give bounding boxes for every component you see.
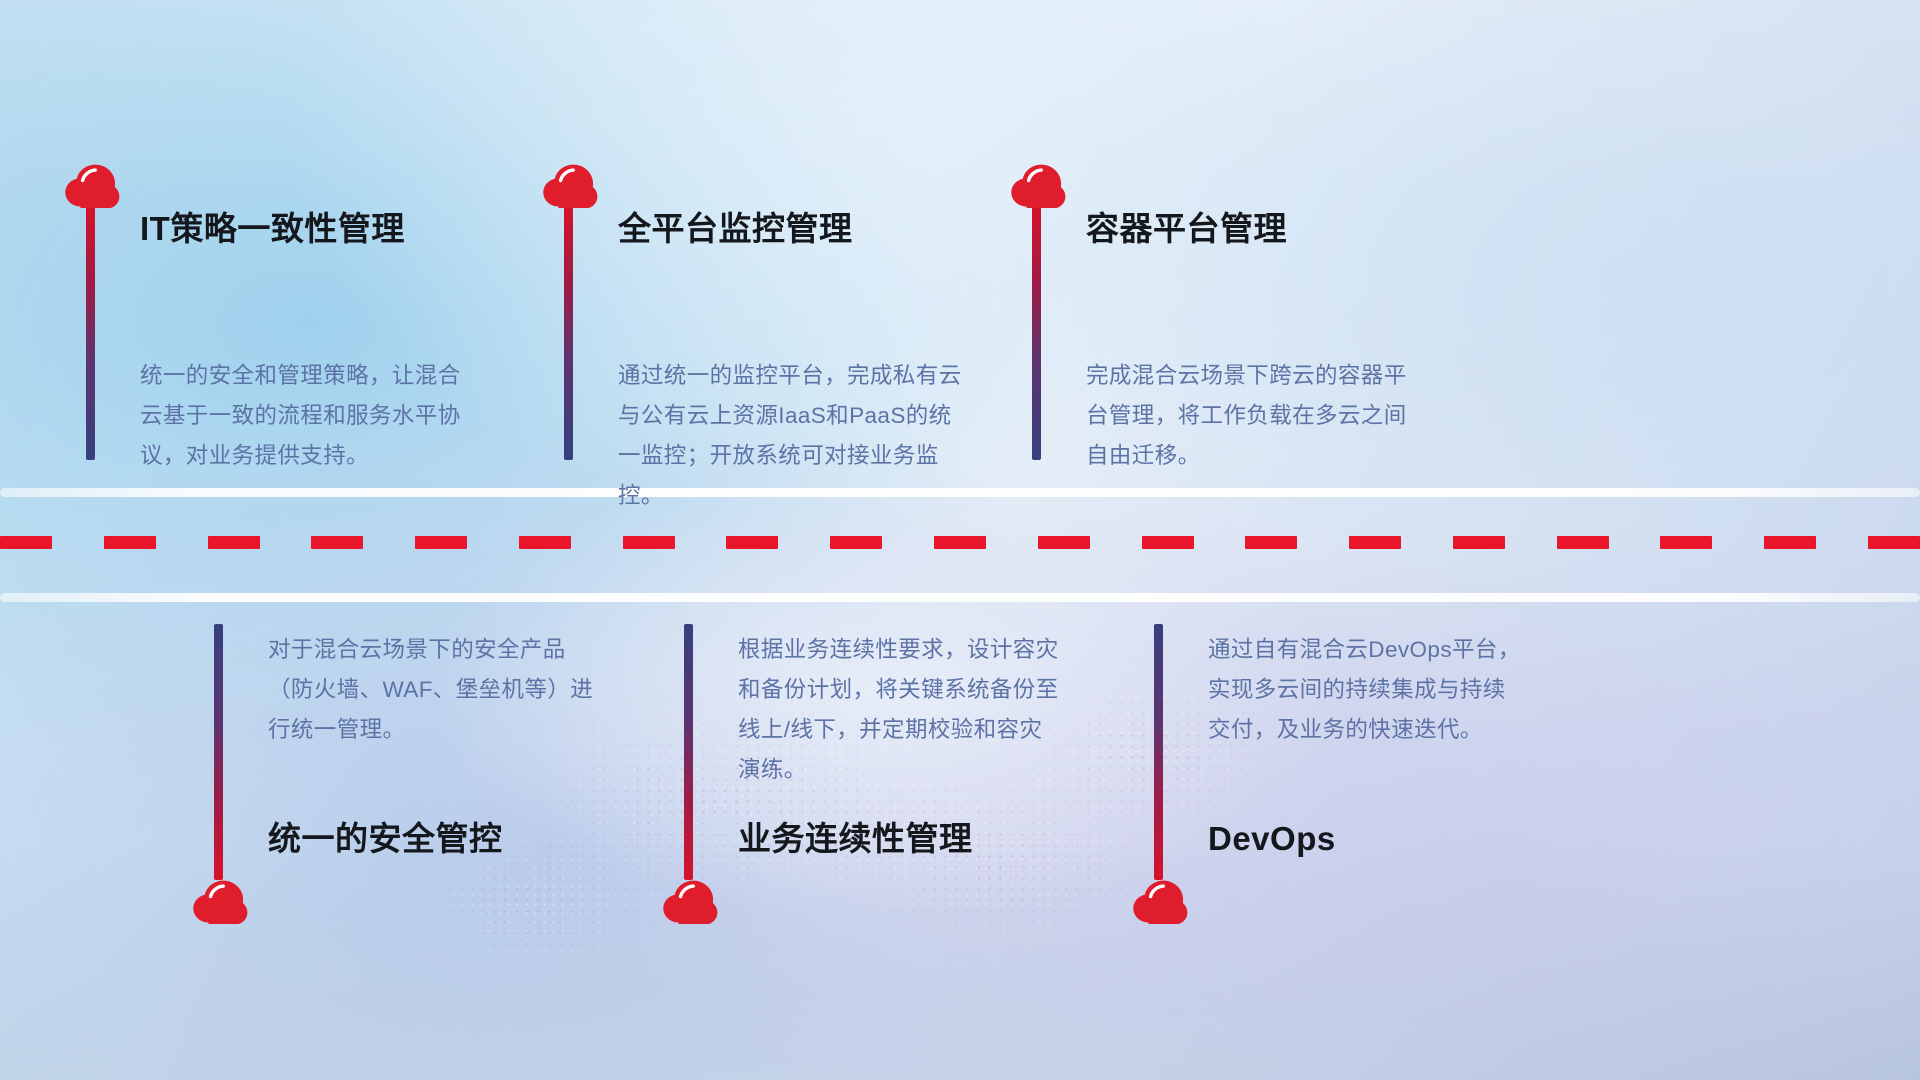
divider-dash xyxy=(104,536,156,549)
divider-dash xyxy=(1349,536,1401,549)
divider-dash xyxy=(830,536,882,549)
marker-stem xyxy=(684,624,693,880)
divider-dash xyxy=(934,536,986,549)
cloud-pin-marker xyxy=(540,160,600,460)
capability-title: IT策略一致性管理 xyxy=(140,212,405,245)
divider-dash xyxy=(726,536,778,549)
divider-dash xyxy=(1557,536,1609,549)
marker-stem xyxy=(564,204,573,460)
capability-description: 完成混合云场景下跨云的容器平 台管理，将工作负载在多云之间 自由迁移。 xyxy=(1086,356,1446,476)
divider-dash xyxy=(1868,536,1920,549)
cloud-pin-marker xyxy=(1130,624,1190,924)
divider-dash xyxy=(1764,536,1816,549)
divider-dash xyxy=(208,536,260,549)
capability-description: 统一的安全和管理策略，让混合 云基于一致的流程和服务水平协 议，对业务提供支持。 xyxy=(140,356,500,476)
cloud-pin-icon xyxy=(660,876,720,924)
divider-dash xyxy=(311,536,363,549)
capability-description: 对于混合云场景下的安全产品 （防火墙、WAF、堡垒机等）进 行统一管理。 xyxy=(268,630,628,750)
infographic-canvas: IT策略一致性管理 统一的安全和管理策略，让混合 云基于一致的流程和服务水平协 … xyxy=(0,0,1920,1080)
capability-title: 容器平台管理 xyxy=(1086,212,1287,245)
cloud-pin-icon xyxy=(1008,160,1068,208)
cloud-pin-icon xyxy=(1130,876,1190,924)
cloud-pin-marker xyxy=(190,624,250,924)
cloud-pin-marker xyxy=(62,160,122,460)
capability-title: 全平台监控管理 xyxy=(618,212,853,245)
capability-description: 根据业务连续性要求，设计容灾 和备份计划，将关键系统备份至 线上/线下，并定期校… xyxy=(738,630,1098,790)
capability-title: 统一的安全管控 xyxy=(268,822,503,855)
divider-dash xyxy=(1660,536,1712,549)
divider-dash xyxy=(1142,536,1194,549)
divider-dash xyxy=(0,536,52,549)
cloud-pin-marker xyxy=(660,624,720,924)
divider-dash xyxy=(415,536,467,549)
cloud-pin-icon xyxy=(62,160,122,208)
marker-stem xyxy=(1032,204,1041,460)
divider-dash xyxy=(1245,536,1297,549)
divider-dash xyxy=(1453,536,1505,549)
divider-dashed-line xyxy=(0,536,1920,549)
divider-rule-bottom xyxy=(0,593,1920,602)
capability-title: DevOps xyxy=(1208,822,1336,855)
divider-dash xyxy=(623,536,675,549)
cloud-pin-marker xyxy=(1008,160,1068,460)
marker-stem xyxy=(86,204,95,460)
marker-stem xyxy=(1154,624,1163,880)
capability-description: 通过统一的监控平台，完成私有云 与公有云上资源IaaS和PaaS的统 一监控；开… xyxy=(618,356,978,516)
cloud-pin-icon xyxy=(540,160,600,208)
cloud-pin-icon xyxy=(190,876,250,924)
capability-title: 业务连续性管理 xyxy=(738,822,973,855)
capability-description: 通过自有混合云DevOps平台， 实现多云间的持续集成与持续 交付，及业务的快速… xyxy=(1208,630,1568,750)
divider-dash xyxy=(1038,536,1090,549)
marker-stem xyxy=(214,624,223,880)
divider-dash xyxy=(519,536,571,549)
